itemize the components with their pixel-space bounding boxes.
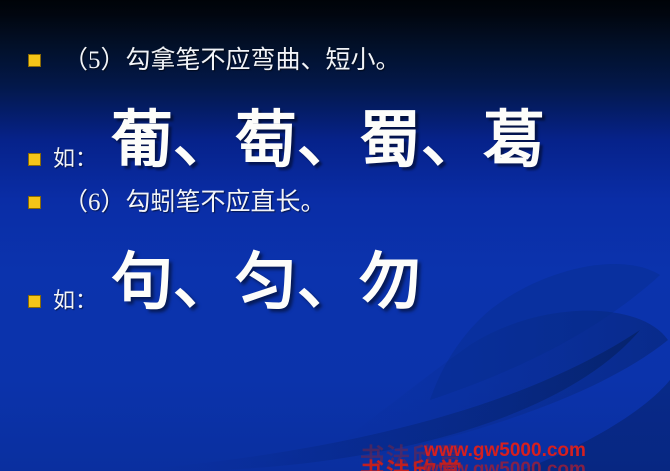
bullet-square-icon xyxy=(28,54,41,67)
example-characters-4: 句、匀、勿 xyxy=(111,252,421,314)
slide-content: （5）勾拿笔不应弯曲、短小。 如： 葡、萄、蜀、葛 （6）勾蚓笔不应直长。 如：… xyxy=(0,0,670,471)
bullet-line-2: 如： 葡、萄、蜀、葛 xyxy=(28,128,545,190)
bullet-square-icon xyxy=(28,153,41,166)
example-characters-2: 葡、萄、蜀、葛 xyxy=(111,110,545,172)
presentation-slide: （5）勾拿笔不应弯曲、短小。 如： 葡、萄、蜀、葛 （6）勾蚓笔不应直长。 如：… xyxy=(0,0,670,471)
example-label-2: 如： xyxy=(53,148,97,170)
bullet-line-1: （5）勾拿笔不应弯曲、短小。 xyxy=(28,48,401,73)
bullet-line-4: 如： 句、匀、勿 xyxy=(28,270,421,332)
example-label-4: 如： xyxy=(53,290,97,312)
bullet-line-1-text: （5）勾拿笔不应弯曲、短小。 xyxy=(63,48,401,73)
bullet-square-icon xyxy=(28,295,41,308)
bullet-line-3: （6）勾蚓笔不应直长。 xyxy=(28,190,326,215)
bullet-line-3-text: （6）勾蚓笔不应直长。 xyxy=(63,190,326,215)
bullet-square-icon xyxy=(28,196,41,209)
